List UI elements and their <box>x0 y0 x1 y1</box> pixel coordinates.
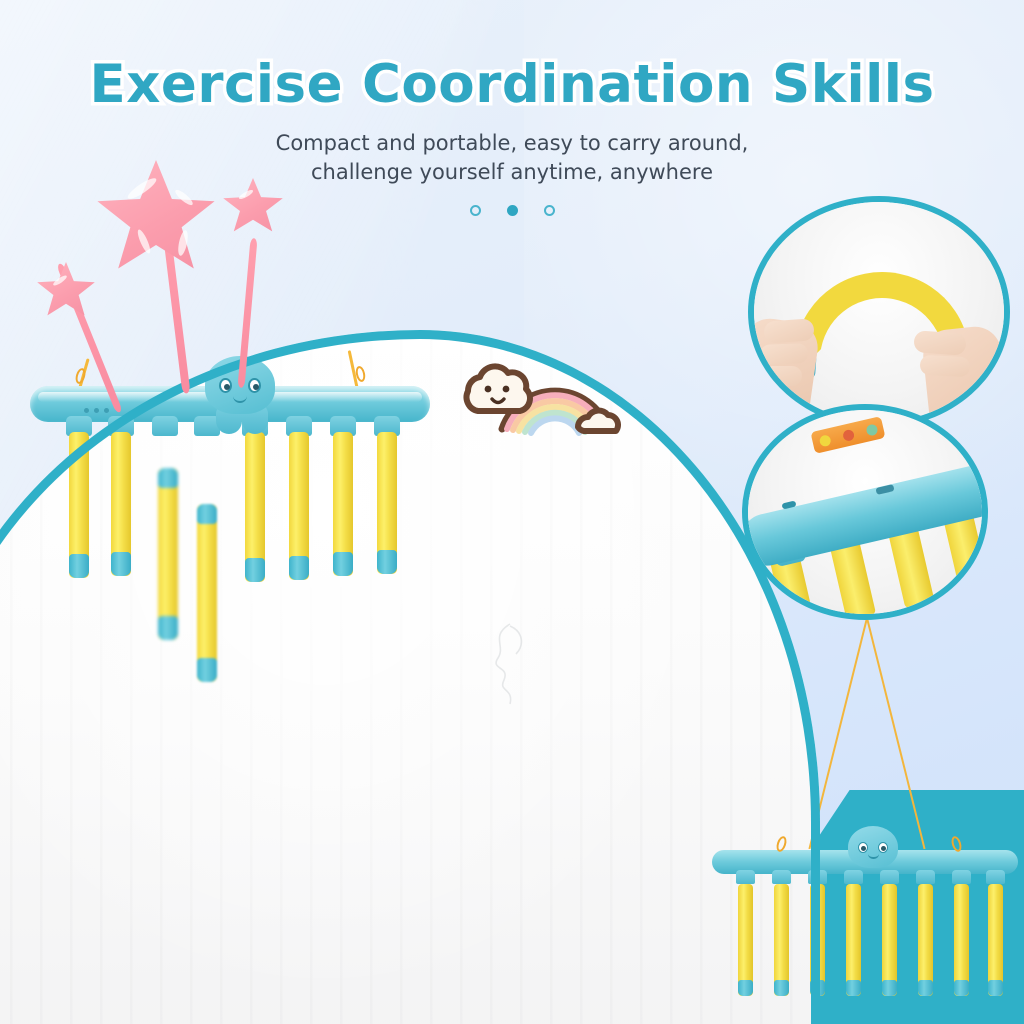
product-marketing-banner: Exercise Coordination Skills Compact and… <box>0 0 1024 1024</box>
octopus-mouth <box>868 854 879 859</box>
bottom-stick-6 <box>918 884 933 996</box>
subtitle-line-1: Compact and portable, easy to carry arou… <box>0 129 1024 158</box>
bar-speck-1 <box>84 408 89 413</box>
subtitle-line-2: challenge yourself anytime, anywhere <box>0 158 1024 187</box>
bottom-peg-4 <box>844 870 863 884</box>
stick-tip <box>289 556 309 580</box>
stick-tip <box>918 980 933 996</box>
inset-flexible-stick: Two hands bending a flexible yellow stic… <box>748 196 1010 428</box>
bottom-stick-8 <box>988 884 1003 996</box>
octopus-mouth <box>233 396 247 403</box>
stick-tip <box>69 554 89 578</box>
stick-tip <box>111 552 131 576</box>
stick-tip <box>245 558 265 582</box>
carousel-dot-1[interactable] <box>470 205 481 216</box>
stick-tip <box>774 980 789 996</box>
stick-tip <box>882 980 897 996</box>
stick-tip <box>846 980 861 996</box>
bottom-peg-2 <box>772 870 791 884</box>
cloud-right-eye <box>503 386 510 393</box>
bar-speck-2 <box>94 408 99 413</box>
toy-stick-3 <box>245 432 265 582</box>
panel-button-yellow[interactable] <box>818 434 831 447</box>
rainbow-cloud-decoration <box>440 345 640 445</box>
falling-stick-2 <box>197 504 217 682</box>
carousel-dots[interactable] <box>0 205 1024 216</box>
left-index-finger <box>763 318 814 343</box>
octopus-left-eye <box>858 842 868 853</box>
main-toy <box>30 372 450 672</box>
bar-speck-3 <box>104 408 109 413</box>
star-small-left <box>36 262 96 320</box>
stick-tip <box>738 980 753 996</box>
stick-tip-bottom <box>158 616 178 640</box>
right-middle-finger <box>920 355 971 378</box>
bottom-stick-1 <box>738 884 753 996</box>
header: Exercise Coordination Skills Compact and… <box>0 0 1024 216</box>
falling-stick-1 <box>158 468 178 640</box>
bottom-octopus-head <box>848 826 898 868</box>
toy-stick-4 <box>289 432 309 580</box>
smiling-cloud <box>467 366 530 411</box>
stick-tip-top <box>197 504 217 524</box>
stick-tip <box>810 980 825 996</box>
octopus-right-eye <box>248 378 261 393</box>
bottom-peg-1 <box>736 870 755 884</box>
toy-stick-5 <box>333 432 353 576</box>
bottom-peg-6 <box>916 870 935 884</box>
bottom-stick-3 <box>810 884 825 996</box>
curtain-squiggle-detail <box>480 620 540 710</box>
carousel-dot-2-active[interactable] <box>507 205 518 216</box>
page-subtitle: Compact and portable, easy to carry arou… <box>0 129 1024 187</box>
toy-stick-6 <box>377 432 397 574</box>
left-ring-finger <box>758 366 802 386</box>
stick-tip-top <box>158 468 178 488</box>
toy-stick-1 <box>69 432 89 578</box>
bottom-stick-4 <box>846 884 861 996</box>
stick-tip-bottom <box>197 658 217 682</box>
stick-tip <box>333 552 353 576</box>
child-girl <box>10 1020 300 1024</box>
bottom-toy <box>712 840 1024 1024</box>
octopus-right-eye <box>878 842 888 853</box>
stick-tip <box>377 550 397 574</box>
bottom-peg-8 <box>986 870 1005 884</box>
right-index-finger <box>913 330 966 356</box>
bottom-stick-2 <box>774 884 789 996</box>
cloud-left-eye <box>485 386 492 393</box>
bottom-stick-5 <box>882 884 897 996</box>
octopus-left-eye <box>219 378 232 393</box>
toy-peg-3 <box>152 416 178 436</box>
panel-button-red[interactable] <box>841 428 854 441</box>
bottom-peg-3 <box>808 870 827 884</box>
bottom-peg-7 <box>952 870 971 884</box>
bottom-stick-7 <box>954 884 969 996</box>
inset-control-panel: Close-up of the teal bar showing the ora… <box>742 404 988 620</box>
stick-tip <box>988 980 1003 996</box>
page-title: Exercise Coordination Skills <box>0 54 1024 115</box>
carousel-dot-3[interactable] <box>544 205 555 216</box>
left-middle-finger <box>760 343 809 365</box>
panel-button-green[interactable] <box>865 423 878 436</box>
toy-stick-2 <box>111 432 131 576</box>
bottom-peg-5 <box>880 870 899 884</box>
stick-tip <box>954 980 969 996</box>
